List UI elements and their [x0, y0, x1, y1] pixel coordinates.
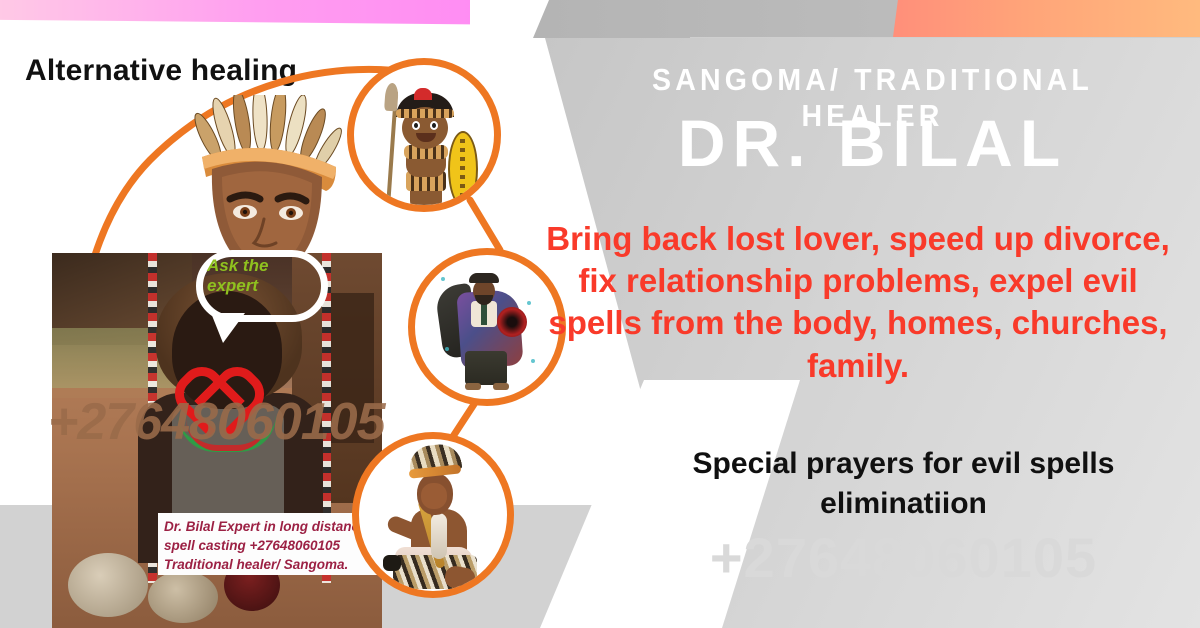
warrior-spear-tip [384, 83, 399, 112]
top-pink-band [0, 0, 470, 32]
heart-icon [194, 340, 260, 400]
dancer-fur-tassel [431, 513, 447, 559]
healer-tie [481, 303, 487, 325]
photo-caption: Dr. Bilal Expert in long distance spell … [158, 513, 383, 575]
services-text: Bring back lost lover, speed up divorce,… [528, 218, 1188, 387]
phone-number-watermark: +27648060105 [616, 525, 1191, 590]
warrior-shadow [398, 205, 456, 212]
circle-zulu-warrior[interactable] [347, 58, 501, 212]
healer-sandal-right [493, 383, 509, 390]
healer-sandal-left [465, 383, 481, 390]
healer-trousers [465, 351, 507, 385]
photo-pot-small [148, 571, 218, 623]
warrior-shield [448, 131, 478, 207]
brand-name: DR. BILAL [560, 105, 1185, 181]
top-orange-band [893, 0, 1200, 37]
poster-root: Alternative healing [0, 0, 1200, 628]
dancer-hand [383, 555, 401, 571]
speech-bubble-tail [211, 313, 245, 343]
speech-bubble-text: Ask the expert [207, 256, 311, 296]
healer-sparkle [445, 347, 449, 351]
healer-red-emblem [497, 307, 527, 337]
special-offer-text: Special prayers for evil spells eliminat… [616, 444, 1191, 524]
warrior-eye-left [412, 121, 420, 130]
page-title: Alternative healing [25, 54, 297, 88]
photo-pot-large [68, 553, 148, 617]
circle-dancer[interactable] [352, 432, 514, 598]
photo-phone-watermark: +27648060105 [48, 392, 385, 452]
warrior-legs [410, 189, 442, 209]
warrior-headband [396, 109, 454, 118]
healer-sparkle [441, 277, 445, 281]
dancer-face [421, 483, 447, 509]
healer-hat [469, 273, 499, 283]
warrior-eye-right [430, 121, 438, 130]
